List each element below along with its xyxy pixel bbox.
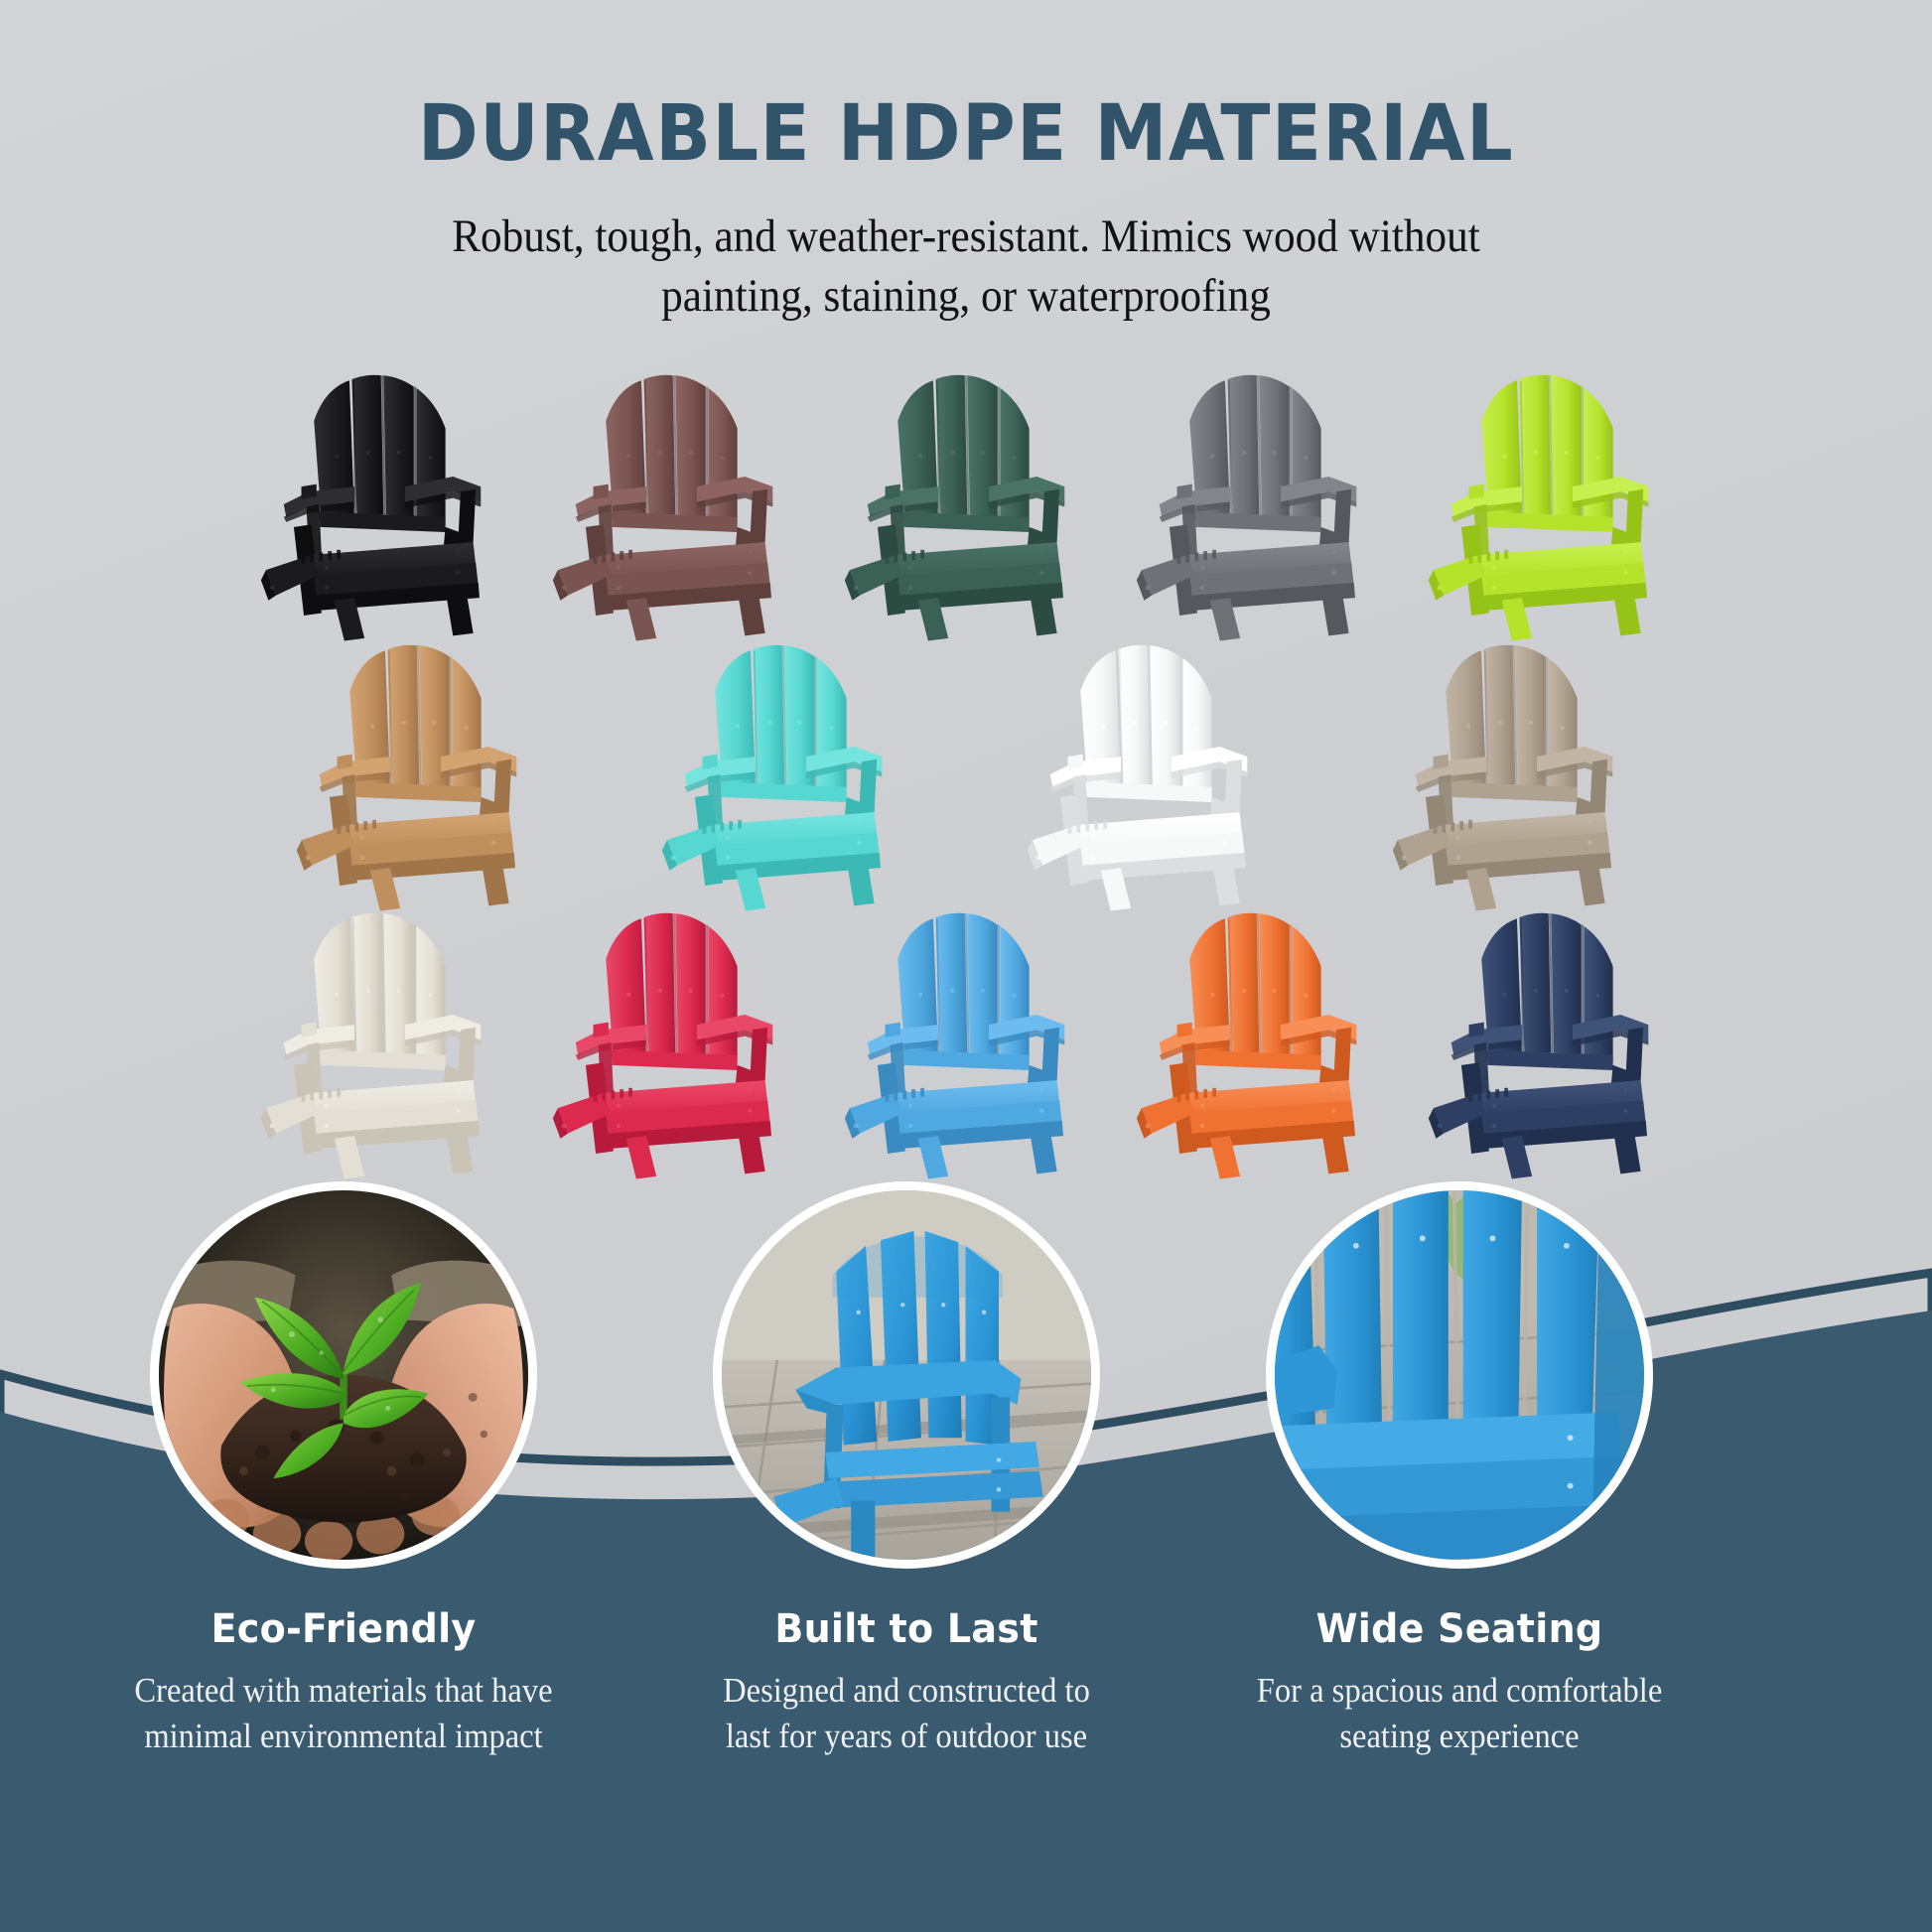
chair-swatch-navy-blue[interactable] [1420,903,1680,1181]
chair-illustration [836,903,1096,1181]
chair-illustration [1384,635,1644,913]
eco-friendly-photo [150,1181,537,1569]
chair-swatch-dark-green[interactable] [836,365,1096,643]
feature-desc-line-1: Created with materials that have [103,1668,584,1714]
chair-swatch-crimson-red[interactable] [544,903,804,1181]
chair-illustration [544,903,804,1181]
feature-title: Wide Seating [1214,1606,1705,1652]
chair-swatch-teak[interactable] [288,635,548,913]
feature-desc-line-1: Designed and constructed to [666,1668,1147,1714]
subtitle-line-2: painting, staining, or waterproofing [345,266,1587,326]
page-subtitle: Robust, tough, and weather-resistant. Mi… [345,207,1587,326]
chair-swatch-white[interactable] [1019,635,1279,913]
feature-desc-line-2: last for years of outdoor use [666,1714,1147,1759]
chair-illustration [252,903,512,1181]
chair-swatch-turquoise[interactable] [653,635,913,913]
chair-illustration [1128,903,1388,1181]
feature-built-to-last: Built to Last Designed and constructed t… [648,1181,1165,1759]
chair-swatch-lime-green[interactable] [1420,365,1680,643]
feature-eco-friendly: Eco-Friendly Created with materials that… [85,1181,602,1759]
chair-swatch-light-blue[interactable] [836,903,1096,1181]
feature-callouts: Eco-Friendly Created with materials that… [0,1181,1932,1932]
wide-seating-photo [1266,1181,1653,1569]
chair-illustration [1128,365,1388,643]
chair-illustration [653,635,913,913]
chair-color-grid [0,365,1932,1259]
feature-description: For a spacious and comfortable seating e… [1219,1668,1700,1759]
chair-illustration [544,365,804,643]
chair-illustration [1420,365,1680,643]
chair-illustration [1019,635,1279,913]
chair-swatch-black[interactable] [252,365,512,643]
chair-row-2 [0,635,1932,913]
feature-desc-line-1: For a spacious and comfortable [1219,1668,1700,1714]
chair-swatch-taupe[interactable] [1384,635,1644,913]
chair-swatch-brown[interactable] [544,365,804,643]
chair-row-3 [0,903,1932,1181]
chair-swatch-ivory[interactable] [252,903,512,1181]
subtitle-line-1: Robust, tough, and weather-resistant. Mi… [345,207,1587,266]
feature-description: Created with materials that have minimal… [103,1668,584,1759]
feature-description: Designed and constructed to last for yea… [666,1668,1147,1759]
feature-title: Built to Last [661,1606,1152,1652]
feature-title: Eco-Friendly [98,1606,589,1652]
feature-desc-line-2: minimal environmental impact [103,1714,584,1759]
built-to-last-photo [713,1181,1100,1569]
chair-swatch-gray[interactable] [1128,365,1388,643]
header: DURABLE HDPE MATERIAL Robust, tough, and… [0,0,1932,326]
chair-illustration [252,365,512,643]
chair-row-1 [0,365,1932,643]
chair-illustration [836,365,1096,643]
chair-illustration [1420,903,1680,1181]
chair-illustration [288,635,548,913]
page-title: DURABLE HDPE MATERIAL [58,95,1873,173]
feature-wide-seating: Wide Seating For a spacious and comforta… [1201,1181,1718,1759]
feature-desc-line-2: seating experience [1219,1714,1700,1759]
infographic-page: DURABLE HDPE MATERIAL Robust, tough, and… [0,0,1932,1932]
chair-swatch-orange[interactable] [1128,903,1388,1181]
